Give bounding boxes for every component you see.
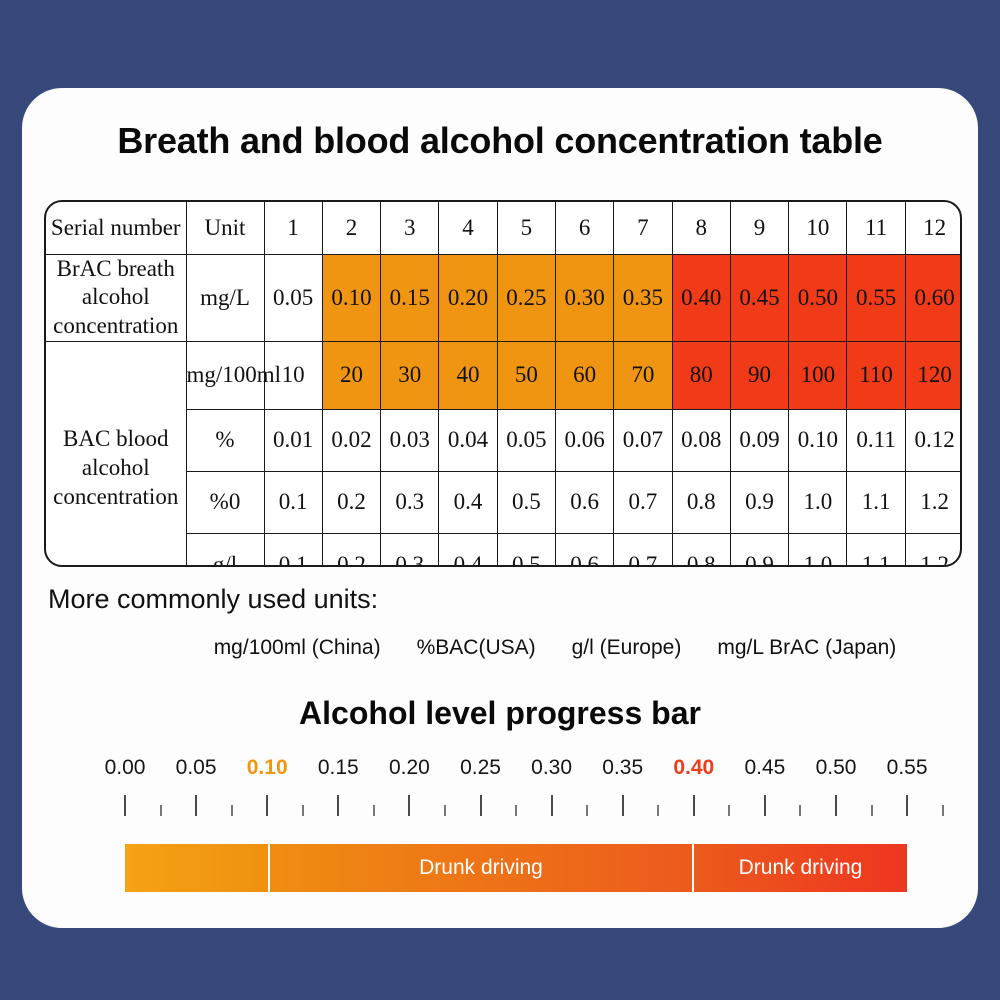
data-cell: 0.6 (555, 471, 613, 533)
data-cell: 0.2 (322, 533, 380, 567)
tick-minor (586, 805, 588, 816)
header-column-6: 6 (555, 202, 613, 254)
segment-label: Drunk driving (419, 856, 543, 880)
tick-minor (373, 805, 375, 816)
scale-label-0.50: 0.50 (816, 756, 857, 780)
data-cell: 0.5 (497, 533, 555, 567)
tick-minor (657, 805, 659, 816)
main-card: Breath and blood alcohol concentration t… (22, 88, 978, 928)
tick-major (835, 795, 837, 816)
header-column-10: 10 (789, 202, 847, 254)
unit-cell: g/l (186, 533, 264, 567)
data-cell: 1.1 (847, 471, 905, 533)
tick-minor (728, 805, 730, 816)
scale-label-0.45: 0.45 (744, 756, 785, 780)
data-cell: 0.50 (789, 254, 847, 341)
data-cell: 0.4 (439, 533, 497, 567)
tick-minor (942, 805, 944, 816)
header-column-5: 5 (497, 202, 555, 254)
scale-label-0.20: 0.20 (389, 756, 430, 780)
data-cell: 0.01 (264, 409, 322, 471)
data-cell: 0.7 (614, 533, 672, 567)
scale-label-0.30: 0.30 (531, 756, 572, 780)
data-cell: 0.03 (381, 409, 439, 471)
data-cell: 30 (381, 341, 439, 409)
unit-item-1: %BAC(USA) (417, 636, 536, 659)
data-cell: 0.35 (614, 254, 672, 341)
data-cell: 0.09 (730, 409, 788, 471)
data-cell: 0.05 (264, 254, 322, 341)
scale-label-0.15: 0.15 (318, 756, 359, 780)
units-heading: More commonly used units: (48, 584, 378, 615)
data-cell: 0.55 (847, 254, 905, 341)
scale-label-0.00: 0.00 (105, 756, 146, 780)
data-cell: 0.6 (555, 533, 613, 567)
tick-major (266, 795, 268, 816)
data-cell: 0.8 (672, 533, 730, 567)
row-label-bac: BAC blood alcohol concentration (46, 341, 186, 567)
header-column-4: 4 (439, 202, 497, 254)
unit-cell: mg/100ml (186, 341, 264, 409)
concentration-table-container: Serial numberUnit123456789101112BrAC bre… (44, 200, 962, 567)
scale-labels: 0.000.050.100.150.200.250.300.350.400.45… (82, 756, 922, 784)
data-cell: 1.2 (905, 471, 962, 533)
data-cell: 0.8 (672, 471, 730, 533)
data-cell: 0.9 (730, 471, 788, 533)
progress-bar[interactable]: Drunk drivingDrunk driving (125, 844, 907, 892)
page-title: Breath and blood alcohol concentration t… (22, 120, 978, 162)
tick-minor (160, 805, 162, 816)
unit-item-0: mg/100ml (China) (214, 636, 381, 659)
data-cell: 20 (322, 341, 380, 409)
scale-label-0.35: 0.35 (602, 756, 643, 780)
data-cell: 0.20 (439, 254, 497, 341)
unit-item-2: g/l (Europe) (572, 636, 682, 659)
progress-segment-2[interactable]: Drunk driving (694, 844, 907, 892)
table-header-row: Serial numberUnit123456789101112 (46, 202, 962, 254)
data-cell: 50 (497, 341, 555, 409)
tick-minor (871, 805, 873, 816)
tick-major (906, 795, 908, 816)
tick-minor (444, 805, 446, 816)
scale-ticks (82, 790, 922, 816)
segment-label: Drunk driving (739, 856, 863, 880)
data-cell: 0.04 (439, 409, 497, 471)
data-cell: 0.05 (497, 409, 555, 471)
data-cell: 1.2 (905, 533, 962, 567)
tick-major (337, 795, 339, 816)
data-cell: 0.30 (555, 254, 613, 341)
tick-major (408, 795, 410, 816)
header-column-1: 1 (264, 202, 322, 254)
data-cell: 0.10 (789, 409, 847, 471)
table-row: BAC blood alcohol concentrationmg/100ml1… (46, 341, 962, 409)
data-cell: 80 (672, 341, 730, 409)
data-cell: 0.60 (905, 254, 962, 341)
data-cell: 120 (905, 341, 962, 409)
header-column-7: 7 (614, 202, 672, 254)
tick-major (693, 795, 695, 816)
data-cell: 40 (439, 341, 497, 409)
header-column-12: 12 (905, 202, 962, 254)
data-cell: 60 (555, 341, 613, 409)
data-cell: 0.25 (497, 254, 555, 341)
concentration-table: Serial numberUnit123456789101112BrAC bre… (46, 202, 962, 567)
data-cell: 0.12 (905, 409, 962, 471)
data-cell: 0.07 (614, 409, 672, 471)
data-cell: 100 (789, 341, 847, 409)
data-cell: 0.15 (381, 254, 439, 341)
data-cell: 1.0 (789, 533, 847, 567)
row-label-brac: BrAC breath alcohol concentration (46, 254, 186, 341)
units-list: mg/100ml (China)%BAC(USA)g/l (Europe)mg/… (22, 636, 978, 660)
tick-major (622, 795, 624, 816)
header-serial-number: Serial number (46, 202, 186, 254)
header-column-8: 8 (672, 202, 730, 254)
tick-minor (799, 805, 801, 816)
tick-major (124, 795, 126, 816)
unit-cell: % (186, 409, 264, 471)
unit-item-3: mg/L BrAC (Japan) (717, 636, 896, 659)
data-cell: 1.0 (789, 471, 847, 533)
data-cell: 0.11 (847, 409, 905, 471)
scale-label-0.55: 0.55 (887, 756, 928, 780)
data-cell: 0.7 (614, 471, 672, 533)
data-cell: 0.4 (439, 471, 497, 533)
scale-label-0.05: 0.05 (176, 756, 217, 780)
tick-major (764, 795, 766, 816)
progress-segment-0[interactable] (125, 844, 270, 892)
data-cell: 0.02 (322, 409, 380, 471)
data-cell: 0.9 (730, 533, 788, 567)
data-cell: 1.1 (847, 533, 905, 567)
progress-segment-1[interactable]: Drunk driving (270, 844, 694, 892)
data-cell: 0.06 (555, 409, 613, 471)
scale-label-0.40: 0.40 (673, 756, 714, 780)
header-unit: Unit (186, 202, 264, 254)
scale-label-0.10: 0.10 (247, 756, 288, 780)
tick-minor (231, 805, 233, 816)
table-row: BrAC breath alcohol concentrationmg/L0.0… (46, 254, 962, 341)
header-column-11: 11 (847, 202, 905, 254)
tick-minor (515, 805, 517, 816)
data-cell: 0.10 (322, 254, 380, 341)
data-cell: 0.08 (672, 409, 730, 471)
tick-major (195, 795, 197, 816)
data-cell: 0.5 (497, 471, 555, 533)
data-cell: 0.45 (730, 254, 788, 341)
data-cell: 0.3 (381, 471, 439, 533)
data-cell: 110 (847, 341, 905, 409)
tick-major (480, 795, 482, 816)
progress-bar-title: Alcohol level progress bar (22, 695, 978, 732)
alcohol-level-scale: 0.000.050.100.150.200.250.300.350.400.45… (82, 756, 922, 881)
unit-cell: mg/L (186, 254, 264, 341)
scale-label-0.25: 0.25 (460, 756, 501, 780)
tick-minor (302, 805, 304, 816)
data-cell: 0.2 (322, 471, 380, 533)
unit-cell: %0 (186, 471, 264, 533)
header-column-3: 3 (381, 202, 439, 254)
header-column-2: 2 (322, 202, 380, 254)
tick-major (551, 795, 553, 816)
data-cell: 0.3 (381, 533, 439, 567)
data-cell: 90 (730, 341, 788, 409)
data-cell: 0.1 (264, 533, 322, 567)
data-cell: 0.1 (264, 471, 322, 533)
data-cell: 0.40 (672, 254, 730, 341)
header-column-9: 9 (730, 202, 788, 254)
data-cell: 70 (614, 341, 672, 409)
